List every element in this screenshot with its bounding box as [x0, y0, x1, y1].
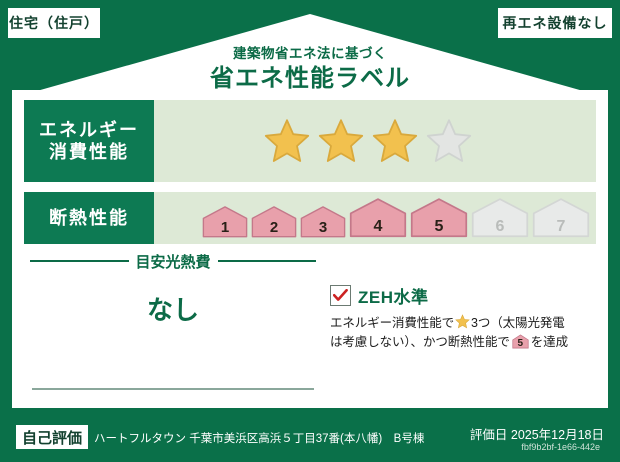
insulation-performance-label-text: 断熱性能 — [49, 207, 129, 230]
energy-performance-label: 住宅（住戸） 再エネ設備なし 建築物省エネ法に基づく 省エネ性能ラベル エネルギ… — [0, 0, 620, 462]
insulation-level-number: 1 — [202, 220, 248, 235]
utility-cost-heading-text: 目安光熱費 — [136, 251, 211, 272]
insulation-level-6: 6 — [471, 198, 529, 238]
zeh-description: エネルギー消費性能で3つ（太陽光発電は考慮しない）、かつ断熱性能で5を達成 — [330, 314, 602, 353]
insulation-level-4: 4 — [349, 198, 407, 238]
insulation-level-number: 3 — [300, 220, 346, 235]
energy-performance-label-line1: エネルギー — [39, 119, 139, 142]
insulation-level-3: 3 — [300, 206, 346, 238]
zeh-checkbox[interactable] — [330, 285, 351, 306]
insulation-performance-label: 断熱性能 — [24, 192, 154, 244]
utility-cost-bottom-divider — [32, 388, 314, 390]
energy-performance-band — [154, 100, 596, 182]
house-icon-inline: 5 — [512, 334, 529, 349]
zeh-desc-part3: は考慮しない）、かつ断熱性能で — [330, 335, 510, 349]
insulation-level-number: 5 — [410, 219, 468, 235]
star-icon-filled — [316, 117, 366, 165]
star-icon-filled — [262, 117, 312, 165]
check-icon — [333, 289, 348, 302]
energy-performance-label: エネルギー 消費性能 — [24, 100, 154, 182]
label-title: 省エネ性能ラベル — [0, 58, 620, 93]
star-rating — [262, 117, 474, 165]
evaluation-date: 評価日 2025年12月18日 — [470, 424, 604, 443]
property-address: ハートフルタウン 千葉市美浜区高浜５丁目37番(本八幡) B号棟 — [94, 430, 424, 446]
zeh-block: ZEH水準 エネルギー消費性能で3つ（太陽光発電は考慮しない）、かつ断熱性能で5… — [330, 283, 602, 353]
insulation-performance-band: 1234567 — [154, 192, 596, 244]
utility-cost-rule-right — [218, 260, 317, 262]
insulation-level-number: 6 — [471, 219, 529, 235]
evaluation-id: fbf9b2bf-1e66-442e — [521, 442, 600, 452]
insulation-level-number: 2 — [251, 220, 297, 235]
zeh-desc-part2: 3つ（太陽光発電 — [471, 316, 565, 330]
renewable-energy-tag: 再エネ設備なし — [498, 8, 612, 38]
insulation-scale: 1234567 — [202, 198, 590, 238]
insulation-level-5: 5 — [410, 198, 468, 238]
building-type-tag-label: 住宅（住戸） — [9, 13, 99, 33]
insulation-performance-row: 断熱性能 1234567 — [24, 192, 596, 244]
zeh-title: ZEH水準 — [358, 283, 429, 308]
utility-cost-rule-left — [30, 260, 129, 262]
insulation-level-7: 7 — [532, 198, 590, 238]
star-icon-filled — [370, 117, 420, 165]
self-evaluation-label: 自己評価 — [22, 427, 82, 448]
insulation-level-2: 2 — [251, 206, 297, 238]
energy-performance-label-line2: 消費性能 — [49, 141, 129, 164]
energy-performance-row: エネルギー 消費性能 — [24, 100, 596, 182]
insulation-level-1: 1 — [202, 206, 248, 238]
zeh-desc-house-number: 5 — [512, 339, 529, 349]
star-icon-inline — [455, 314, 470, 329]
insulation-level-number: 4 — [349, 219, 407, 235]
renewable-energy-tag-label: 再エネ設備なし — [503, 13, 608, 33]
utility-cost-value: なし — [30, 290, 316, 327]
insulation-level-number: 7 — [532, 219, 590, 235]
utility-cost-heading: 目安光熱費 — [30, 252, 316, 270]
zeh-heading: ZEH水準 — [330, 283, 602, 308]
building-type-tag: 住宅（住戸） — [8, 8, 100, 38]
zeh-desc-part4: を達成 — [531, 335, 568, 349]
footer: 自己評価 ハートフルタウン 千葉市美浜区高浜５丁目37番(本八幡) B号棟 評価… — [0, 412, 620, 462]
zeh-desc-part1: エネルギー消費性能で — [330, 316, 454, 330]
star-icon-empty — [424, 117, 474, 165]
self-evaluation-badge: 自己評価 — [16, 425, 88, 449]
